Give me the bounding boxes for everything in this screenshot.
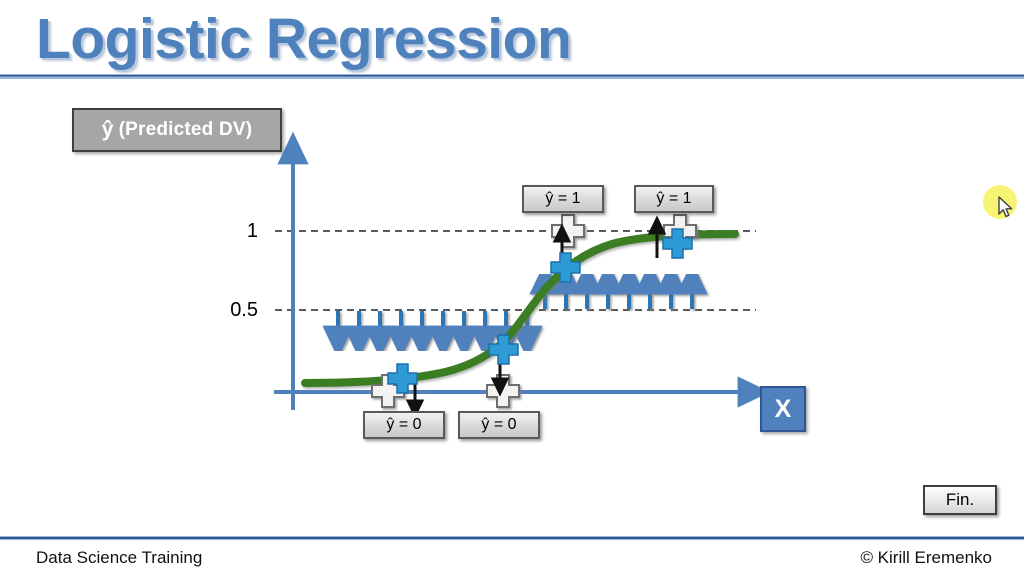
callout-y-hat-equals-0-right: ŷ = 0 xyxy=(458,411,540,439)
round-down-arrows-group xyxy=(338,311,527,336)
callout-y-hat-equals-1-right: ŷ = 1 xyxy=(634,185,714,213)
mouse-cursor-icon xyxy=(998,196,1014,220)
round-up-arrows-group xyxy=(545,284,692,309)
x-axis-label-box: X xyxy=(760,386,806,432)
footer-right-text: © Kirill Eremenko xyxy=(860,548,992,568)
projection-arrows-group xyxy=(415,228,657,406)
callout-y-hat-equals-0-left: ŷ = 0 xyxy=(363,411,445,439)
slide: Logistic Regression ŷ(Predicted DV) 1 0.… xyxy=(0,0,1024,573)
callout-y-hat-equals-1-left: ŷ = 1 xyxy=(522,185,604,213)
page-title: Logistic Regression xyxy=(36,6,571,72)
footer-divider xyxy=(0,536,1024,540)
footer-left-text: Data Science Training xyxy=(36,548,202,568)
fin-button[interactable]: Fin. xyxy=(923,485,997,515)
header-divider xyxy=(0,74,1024,79)
logistic-regression-chart xyxy=(0,80,1024,530)
